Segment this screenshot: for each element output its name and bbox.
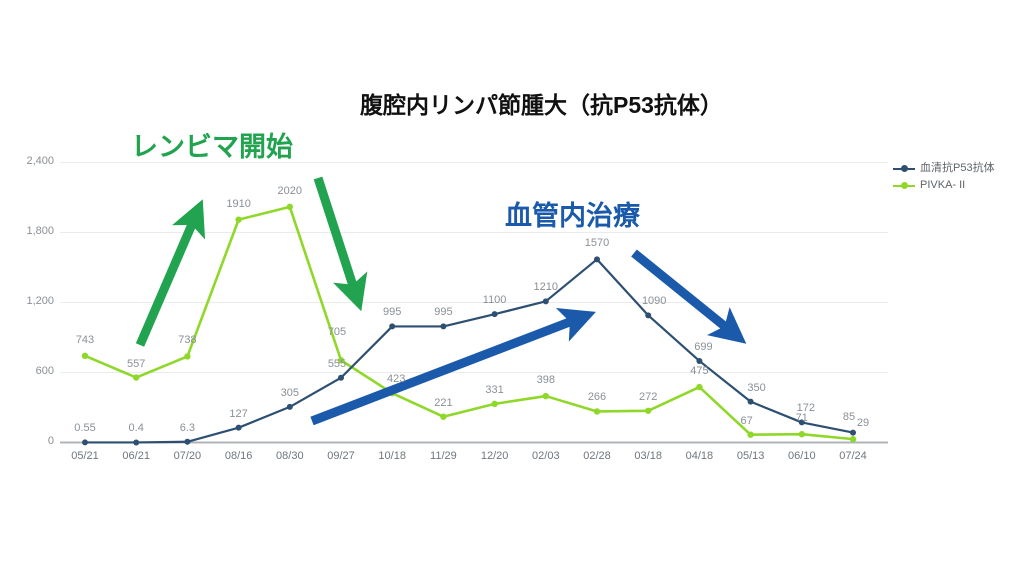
- pivka-value-label: 557: [116, 358, 156, 370]
- x-axis-tick-label: 04/18: [675, 450, 723, 462]
- x-axis-tick-label: 07/20: [163, 450, 211, 462]
- legend-label-serum-p53: 血清抗P53抗体: [920, 160, 995, 177]
- pivka-value-label: 423: [376, 373, 416, 385]
- serum-p53-value-label: 127: [219, 408, 259, 420]
- data-point: [235, 216, 241, 222]
- x-axis-tick-label: 02/28: [573, 450, 621, 462]
- serum-p53-value-label: 1090: [634, 295, 674, 307]
- data-point: [543, 393, 549, 399]
- legend-marker-pivka: [893, 180, 915, 192]
- x-axis-tick-label: 12/20: [471, 450, 519, 462]
- data-point: [594, 408, 600, 414]
- pivka-value-label: 705: [317, 326, 357, 338]
- serum-p53-value-label: 1210: [526, 281, 566, 293]
- serum-p53-value-label: 1570: [577, 237, 617, 249]
- pivka-value-label: 266: [577, 391, 617, 403]
- serum-p53-value-label: 305: [270, 387, 310, 399]
- legend-marker-serum-p53: [893, 163, 915, 175]
- x-axis-tick-label: 10/18: [368, 450, 416, 462]
- data-point: [696, 358, 702, 364]
- x-axis-tick-label: 09/27: [317, 450, 365, 462]
- pivka-value-label: 1910: [219, 198, 259, 210]
- pivka-value-label: 331: [475, 384, 515, 396]
- data-point: [133, 439, 139, 445]
- data-point: [491, 401, 497, 407]
- data-point: [82, 439, 88, 445]
- x-axis-tick-label: 03/18: [624, 450, 672, 462]
- data-point: [236, 425, 242, 431]
- y-axis-tick-label: 2,400: [10, 155, 54, 167]
- y-axis-tick-label: 0: [10, 435, 54, 447]
- x-axis-tick-label: 08/16: [215, 450, 263, 462]
- data-point: [543, 298, 549, 304]
- y-axis-tick-label: 1,800: [10, 225, 54, 237]
- serum-p53-value-label: 1100: [475, 294, 515, 306]
- serum-p53-value-label: 995: [372, 306, 412, 318]
- serum-p53-value-label: 85: [829, 411, 869, 423]
- arrow-blue-down: [634, 253, 733, 333]
- data-point: [748, 399, 754, 405]
- pivka-value-label: 221: [423, 397, 463, 409]
- data-point: [440, 323, 446, 329]
- arrow-lenvima-up: [140, 215, 196, 345]
- data-point: [492, 311, 498, 317]
- serum-p53-value-label: 0.4: [116, 422, 156, 434]
- data-point: [645, 312, 651, 318]
- pivka-value-label: 67: [727, 415, 767, 427]
- data-point: [799, 431, 805, 437]
- x-axis-tick-label: 06/21: [112, 450, 160, 462]
- x-axis-tick-label: 05/21: [61, 450, 109, 462]
- line-chart-plot: [0, 0, 1024, 576]
- data-point: [696, 384, 702, 390]
- pivka-value-label: 272: [628, 391, 668, 403]
- slide-canvas: 腹腔内リンパ節腫大（抗P53抗体） レンビマ開始 血管内治療: [0, 0, 1024, 576]
- data-point: [747, 431, 753, 437]
- data-point: [850, 436, 856, 442]
- data-point: [594, 256, 600, 262]
- x-axis-tick-label: 06/10: [778, 450, 826, 462]
- serum-p53-value-label: 995: [423, 306, 463, 318]
- y-axis-tick-label: 1,200: [10, 295, 54, 307]
- series-pivka-line: [82, 204, 856, 443]
- serum-p53-value-label: 555: [317, 358, 357, 370]
- data-point: [133, 374, 139, 380]
- y-axis-tick-label: 600: [10, 365, 54, 377]
- data-point: [850, 430, 856, 436]
- serum-p53-value-label: 6.3: [167, 422, 207, 434]
- x-axis-tick-label: 07/24: [829, 450, 877, 462]
- data-point: [440, 414, 446, 420]
- data-point: [287, 204, 293, 210]
- x-axis-tick-label: 08/30: [266, 450, 314, 462]
- data-point: [287, 404, 293, 410]
- serum-p53-value-label: 172: [786, 402, 826, 414]
- x-axis-tick-label: 02/03: [522, 450, 570, 462]
- x-axis-tick-label: 11/29: [419, 450, 467, 462]
- x-axis-tick-label: 05/13: [727, 450, 775, 462]
- chart-legend: 血清抗P53抗体 PIVKA- II: [893, 160, 995, 194]
- data-point: [338, 375, 344, 381]
- data-point: [184, 353, 190, 359]
- data-point: [389, 323, 395, 329]
- data-point: [184, 439, 190, 445]
- serum-p53-value-label: 699: [683, 341, 723, 353]
- data-point: [645, 408, 651, 414]
- pivka-value-label: 398: [526, 374, 566, 386]
- legend-item-pivka[interactable]: PIVKA- II: [893, 177, 995, 194]
- arrow-green-down: [318, 178, 356, 295]
- pivka-value-label: 2020: [270, 185, 310, 197]
- pivka-value-label: 738: [167, 334, 207, 346]
- serum-p53-value-label: 350: [737, 382, 777, 394]
- legend-label-pivka: PIVKA- II: [920, 177, 965, 194]
- pivka-value-label: 475: [679, 365, 719, 377]
- pivka-value-label: 743: [65, 334, 105, 346]
- legend-item-serum-p53[interactable]: 血清抗P53抗体: [893, 160, 995, 177]
- data-point: [82, 353, 88, 359]
- serum-p53-value-label: 0.55: [65, 422, 105, 434]
